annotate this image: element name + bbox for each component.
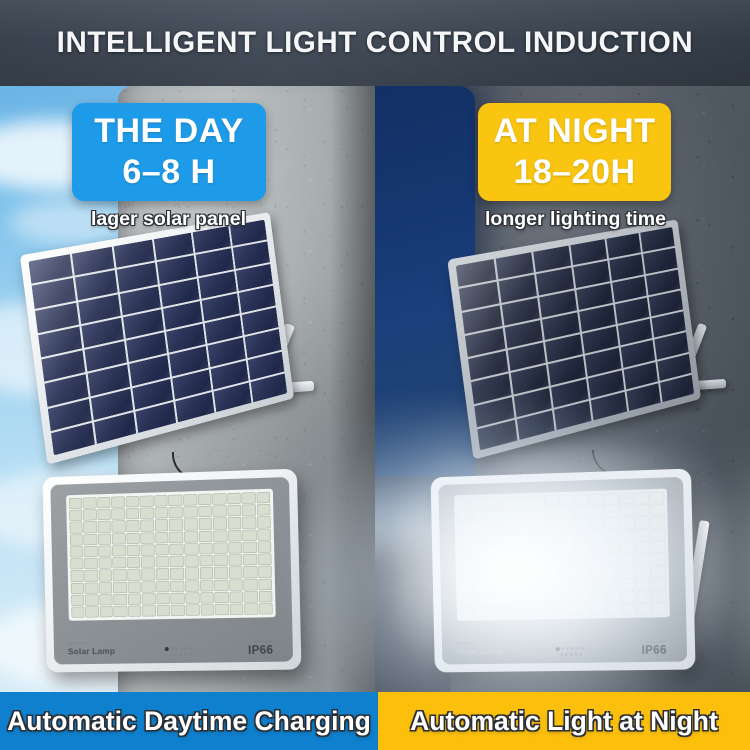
badge-day-line2: 6–8 H xyxy=(82,152,256,192)
footer-night-banner: Automatic Light at Night xyxy=(378,692,750,750)
footer-day-banner: Automatic Daytime Charging xyxy=(0,692,378,750)
footer-night-label: Automatic Light at Night xyxy=(410,706,718,737)
led-array xyxy=(454,488,670,621)
badge-night-line1: AT NIGHT xyxy=(488,110,661,152)
wall-shadow-edge xyxy=(330,86,375,750)
brand-barcode-marks: ▪▪▪▪▪▪▪▪ xyxy=(457,641,476,645)
floodlight-night: ▪▪▪▪▪▪▪▪ Solar Lamp ▪▪▪▪▪▪▪▪ IP66 xyxy=(430,473,692,671)
caption-night: longer lighting time xyxy=(485,208,666,231)
header-bar: INTELLIGENT LIGHT CONTROL INDUCTION xyxy=(0,0,750,86)
led-array xyxy=(66,489,276,621)
badge-day-line1: THE DAY xyxy=(82,110,256,152)
solar-cell-grid xyxy=(456,227,694,450)
floodlight-faceplate: ▪▪▪▪▪▪▪▪ Solar Lamp ▪▪▪▪▪▪▪▪ IP66 xyxy=(441,617,687,664)
ip-rating-label: IP66 xyxy=(248,644,274,656)
rating-barcode-marks: ▪▪▪▪▪▪▪▪ xyxy=(646,640,666,644)
footer-day-label: Automatic Daytime Charging xyxy=(7,706,371,737)
floodlight-housing: ▪▪▪▪▪▪▪▪ Solar Lamp ▪▪▪▪▪▪▪▪ IP66 xyxy=(50,477,293,664)
caption-day: lager solar panel xyxy=(91,208,246,231)
floodlight-housing: ▪▪▪▪▪▪▪▪ Solar Lamp ▪▪▪▪▪▪▪▪ IP66 xyxy=(438,477,687,665)
badge-at-night: AT NIGHT 18–20H xyxy=(478,103,671,201)
floodlight-day: ▪▪▪▪▪▪▪▪ Solar Lamp ▪▪▪▪▪▪▪▪ IP66 xyxy=(42,473,298,671)
brand-label: Solar Lamp xyxy=(68,646,115,657)
solar-panel-night xyxy=(462,238,700,428)
brand-barcode-marks: ▪▪▪▪▪▪▪▪ xyxy=(68,641,87,645)
brand-label: Solar Lamp xyxy=(456,646,503,657)
floodlight-faceplate: ▪▪▪▪▪▪▪▪ Solar Lamp ▪▪▪▪▪▪▪▪ IP66 xyxy=(53,617,293,664)
product-poster: ▪▪▪▪▪▪▪▪ Solar Lamp ▪▪▪▪▪▪▪▪ IP66 xyxy=(0,0,750,750)
status-indicator-leds xyxy=(555,647,583,656)
footer-bar: Automatic Daytime Charging Automatic Lig… xyxy=(0,692,750,750)
status-indicator-leds xyxy=(165,647,193,656)
solar-panel-day xyxy=(36,232,294,430)
badge-night-line2: 18–20H xyxy=(488,152,661,192)
solar-cell-grid xyxy=(28,220,287,456)
rating-barcode-marks: ▪▪▪▪▪▪▪▪ xyxy=(252,640,272,644)
ip-rating-label: IP66 xyxy=(641,644,667,656)
badge-the-day: THE DAY 6–8 H xyxy=(72,103,266,201)
page-title: INTELLIGENT LIGHT CONTROL INDUCTION xyxy=(0,0,750,86)
